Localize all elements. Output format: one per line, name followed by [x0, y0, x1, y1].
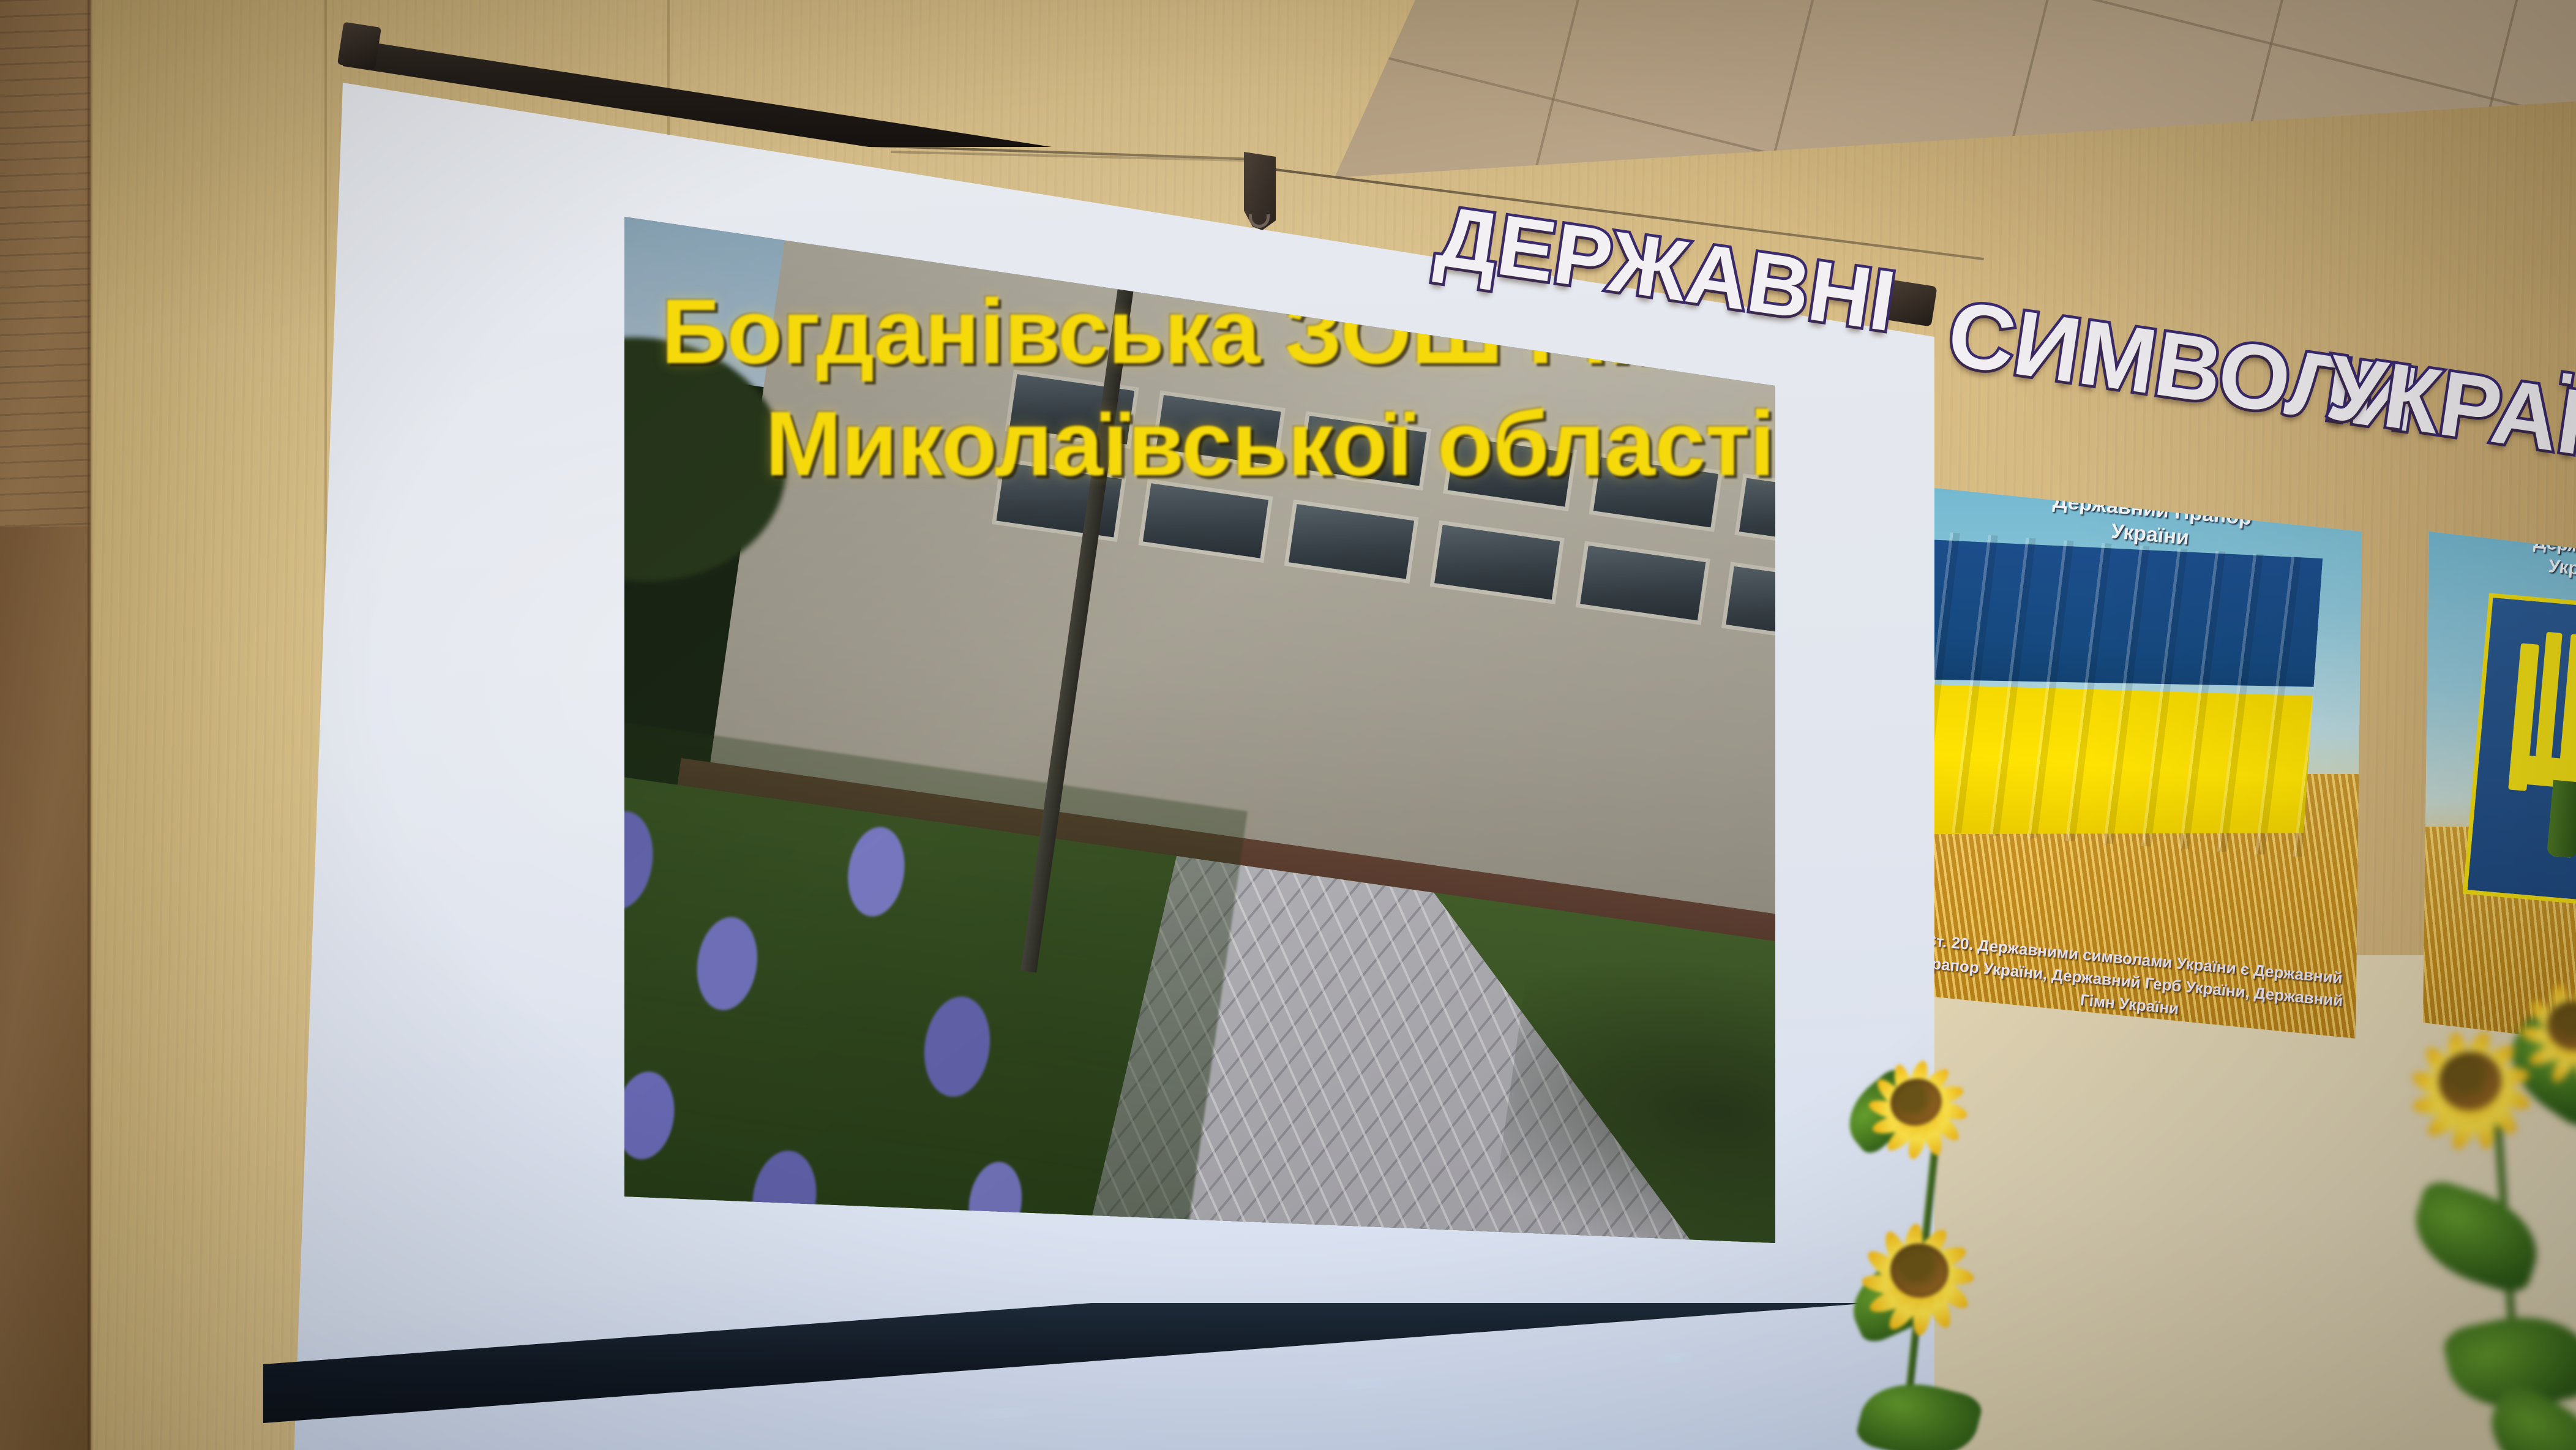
sunflower-leaf	[2402, 1176, 2551, 1298]
sunflower-plant-left	[1824, 1016, 2167, 1450]
slide-title-line-2: Миколаївської області	[661, 388, 1751, 500]
roller-end-cap-left	[337, 22, 381, 70]
photo-scene: ДЕРЖАВНІ СИМВОЛИ УКРАЇНИ Державний Прапо…	[0, 0, 2576, 1450]
sunflower-bloom	[1833, 1190, 2005, 1351]
sunflower-bloom	[1836, 1026, 1996, 1178]
sunflower-plant-right	[2302, 998, 2576, 1450]
projector-screen[interactable]: Богданівська ЗОШ I-III ступенів Миколаїв…	[0, 0, 2576, 1450]
sunflower-leaf	[1854, 1371, 1984, 1450]
